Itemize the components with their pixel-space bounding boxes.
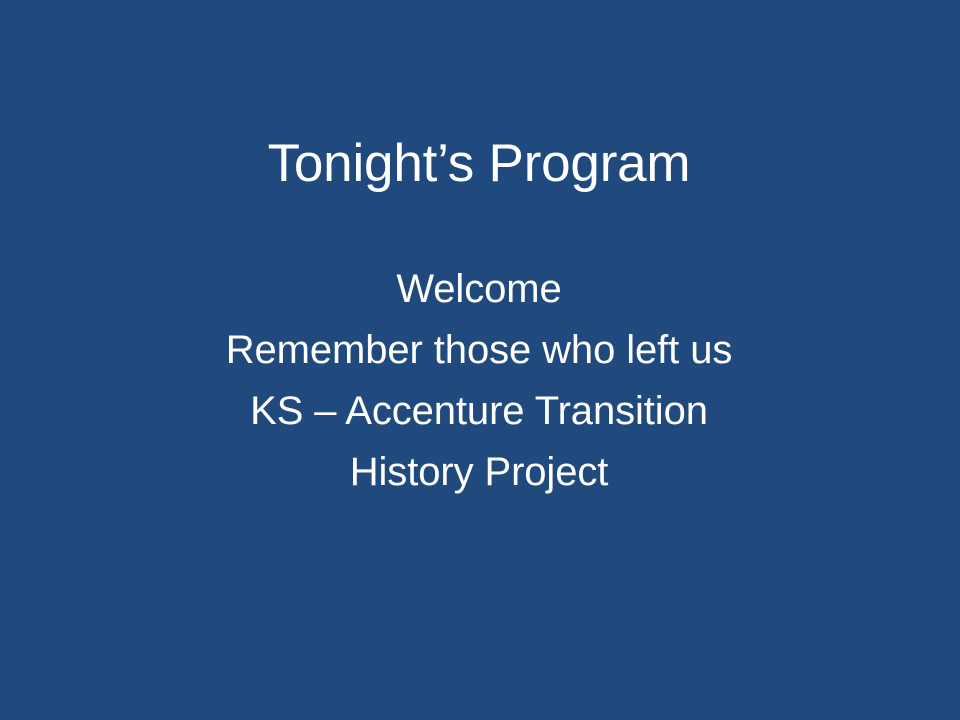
body-line-welcome: Welcome: [0, 259, 958, 320]
body-line-remember: Remember those who left us: [0, 320, 958, 381]
body-line-history-project: History Project: [0, 442, 958, 503]
slide-title: Tonight’s Program: [0, 131, 960, 197]
slide-body-text: Welcome Remember those who left us KS – …: [0, 259, 960, 503]
presentation-slide: Tonight’s Program Welcome Remember those…: [0, 0, 960, 720]
body-line-transition: KS – Accenture Transition: [0, 381, 958, 442]
